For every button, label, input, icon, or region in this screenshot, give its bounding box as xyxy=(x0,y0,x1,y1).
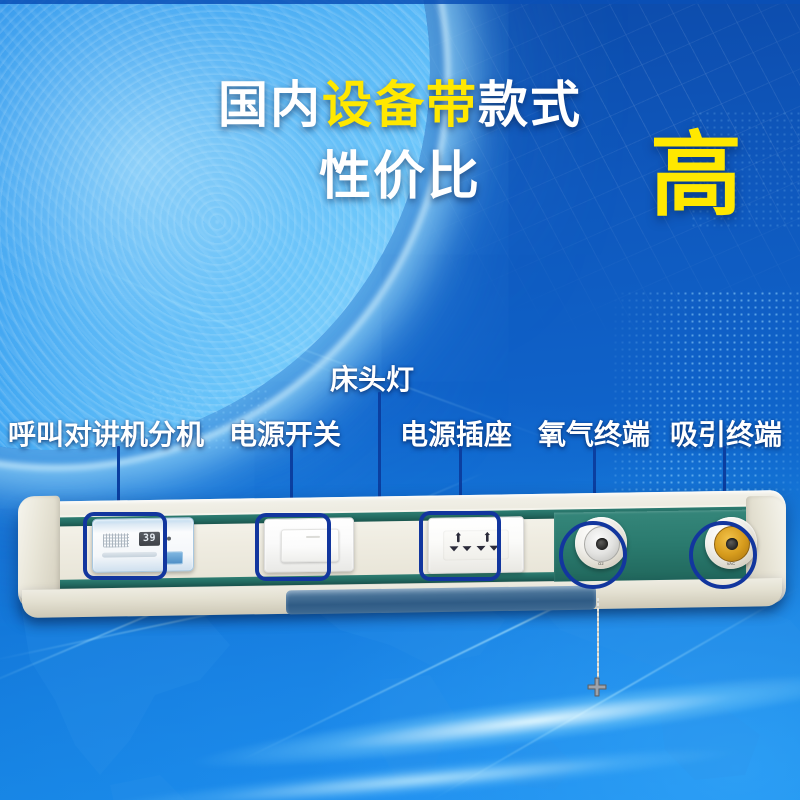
highlight-box-power-socket xyxy=(419,511,501,581)
halftone-dots-right xyxy=(612,290,800,495)
highlight-box-power-switch xyxy=(255,513,331,581)
unit-end-cap-left xyxy=(18,496,60,605)
highlight-circle-oxygen xyxy=(559,521,627,589)
status-led-icon xyxy=(167,537,171,541)
headline-highlight: 设备带 xyxy=(322,77,478,133)
callout-suction-terminal: 吸引终端 xyxy=(670,413,782,453)
bed-lamp-diffuser[interactable] xyxy=(286,586,596,615)
top-edge-bar xyxy=(0,0,800,4)
pull-cord[interactable] xyxy=(597,598,599,684)
callout-power-socket: 电源插座 xyxy=(400,413,512,453)
headline-line-1: 国内设备带款式 xyxy=(0,78,800,132)
callout-power-switch: 电源开关 xyxy=(229,413,341,453)
headline-part-2: 款式 xyxy=(478,77,582,133)
headline-part-1: 国内 xyxy=(218,77,322,133)
highlight-circle-suction xyxy=(689,521,757,589)
product-banner: 国内设备带款式 性价比 高 呼叫对讲机分机 电源开关 床头灯 电源插座 氧气终端… xyxy=(0,0,800,800)
callout-intercom: 呼叫对讲机分机 xyxy=(8,413,204,453)
pull-cord-handle[interactable] xyxy=(584,676,610,702)
highlight-box-intercom xyxy=(83,512,167,580)
headline-big-character: 高 xyxy=(650,130,742,222)
callout-bed-lamp: 床头灯 xyxy=(330,358,414,398)
call-button[interactable] xyxy=(165,551,183,564)
